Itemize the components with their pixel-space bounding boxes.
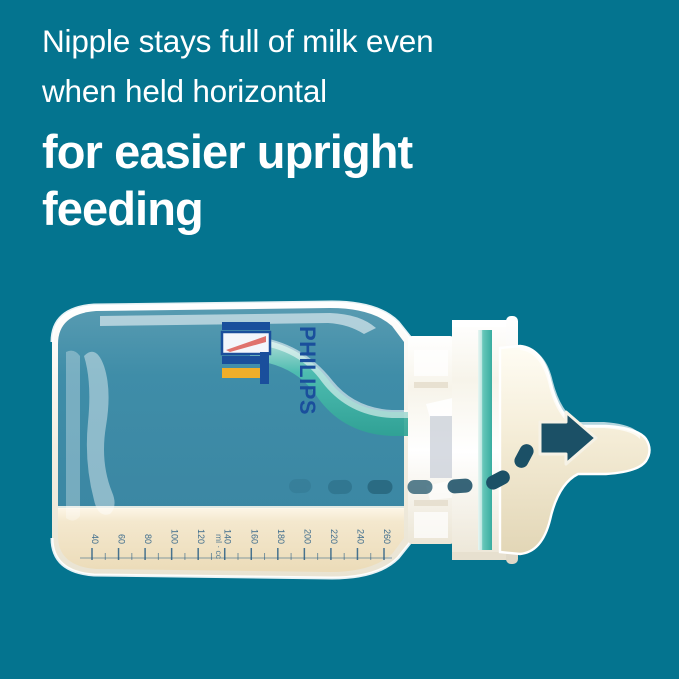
flow-dash xyxy=(289,479,311,494)
flow-dash xyxy=(368,480,393,494)
scale-tick-label: 120 xyxy=(196,529,206,544)
headline-bold-line-2: feeding xyxy=(42,180,642,237)
logo-bar-vertical xyxy=(260,352,269,384)
baby-bottle-illustration: PHILIPS 40608010012014016018020022024026… xyxy=(0,286,679,596)
scale-tick-label: 60 xyxy=(117,534,127,544)
scale-tick-label: 80 xyxy=(143,534,153,544)
scale-tick-label: 220 xyxy=(329,529,339,544)
scale-tick-label: 160 xyxy=(249,529,259,544)
headline-light-line-1: Nipple stays full of milk even xyxy=(42,16,642,66)
headline-light-line-2: when held horizontal xyxy=(42,66,642,116)
bottle-inner-highlight-left xyxy=(66,351,80,521)
philips-wordmark: PHILIPS xyxy=(295,326,320,415)
scale-unit-label: ml · cc xyxy=(214,534,224,560)
scale-tick-label: 200 xyxy=(302,529,312,544)
headline-bold-block: for easier upright feeding xyxy=(42,123,642,237)
logo-bar-top xyxy=(222,322,270,330)
flow-dash xyxy=(447,478,473,494)
thread-ridge-1 xyxy=(414,350,448,376)
teal-valve-gloss xyxy=(478,330,482,550)
thread-ridge-3 xyxy=(414,500,448,506)
scale-tick-label: 180 xyxy=(276,529,286,544)
thread-ridge-4 xyxy=(414,512,448,538)
scale-tick-label: 100 xyxy=(170,529,180,544)
scale-tick-label: 240 xyxy=(355,529,365,544)
promo-image-canvas: Nipple stays full of milk even when held… xyxy=(0,0,679,679)
logo-bar-mid xyxy=(222,356,264,364)
scale-tick-label: 40 xyxy=(90,534,100,544)
collar-edge-bottom xyxy=(452,552,506,560)
thread-ridge-2 xyxy=(414,382,448,388)
headline-block: Nipple stays full of milk even when held… xyxy=(42,16,642,237)
logo-bar-orange xyxy=(222,368,260,378)
flow-dash xyxy=(328,480,352,495)
scale-tick-label: 260 xyxy=(382,529,392,544)
flow-dash xyxy=(408,480,433,494)
bottle-svg: PHILIPS 40608010012014016018020022024026… xyxy=(0,286,679,596)
headline-bold-line-1: for easier upright xyxy=(42,123,642,180)
collar-edge-top xyxy=(452,320,506,327)
